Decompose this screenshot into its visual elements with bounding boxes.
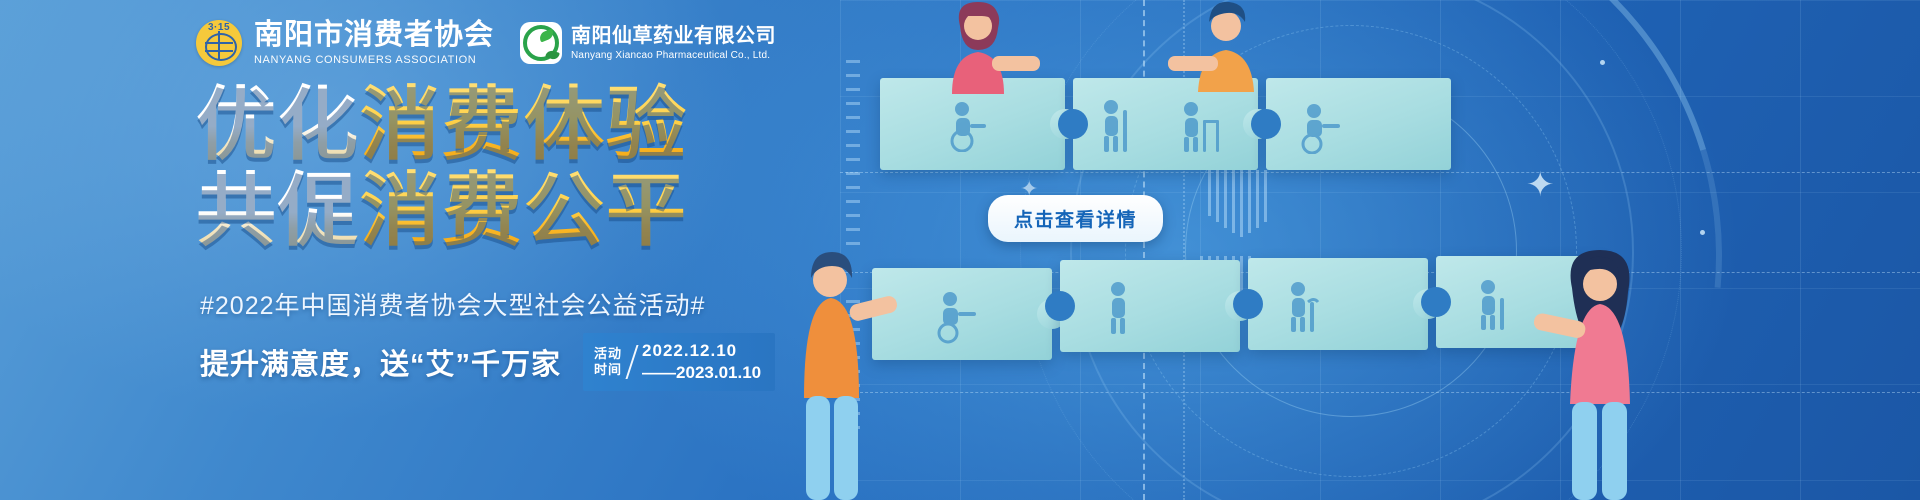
association-name-en: NANYANG CONSUMERS ASSOCIATION: [254, 55, 494, 66]
date-end: ——2023.01.10: [642, 362, 761, 384]
campaign-hashtag: #2022年中国消费者协会大型社会公益活动#: [200, 286, 705, 322]
headline-line2-white: 共促: [196, 166, 360, 255]
headline-line2-gold: 消费公平: [360, 166, 688, 255]
view-details-button[interactable]: 点击查看详情: [988, 195, 1163, 242]
dot-decoration-c: [1600, 60, 1605, 65]
vertical-dashed-line: [1143, 0, 1145, 500]
company-name-cn: 南阳仙草药业有限公司: [571, 26, 776, 46]
bottom-row: 提升满意度，送“艾”千万家 活动 时间 2022.12.10 ——2023.01…: [200, 333, 775, 391]
slash-divider: [626, 345, 639, 379]
star-icon-b: ✦: [1526, 168, 1555, 202]
headline-block: 优化消费体验 共促消费公平: [196, 86, 688, 249]
seal-number: 3·15: [196, 22, 242, 33]
horizontal-dashed-line-bottom: [840, 392, 1920, 393]
person-bottom-left: [790, 248, 900, 500]
date-label-line1: 活动: [594, 346, 622, 362]
comb-decoration-a: [1208, 170, 1267, 240]
tick-marks-left: [846, 60, 860, 245]
horizontal-dashed-line-top: [840, 172, 1920, 173]
person-top-right: [1150, 0, 1280, 92]
logo-row: 3·15 南阳市消费者协会 NANYANG CONSUMERS ASSOCIAT…: [196, 20, 776, 66]
campaign-slogan: 提升满意度，送“艾”千万家: [200, 341, 561, 383]
event-date-badge: 活动 时间 2022.12.10 ——2023.01.10: [583, 333, 775, 391]
dot-decoration-b: [1700, 230, 1705, 235]
leaf-icon: [520, 22, 562, 64]
company-logo: 南阳仙草药业有限公司 Nanyang Xiancao Pharmaceutica…: [520, 22, 776, 64]
person-top-left: [930, 2, 1050, 94]
person-bottom-right: [1530, 248, 1660, 500]
view-details-label: 点击查看详情: [1014, 210, 1137, 231]
promo-banner: ✦ ✦ ✦: [0, 0, 1920, 500]
company-name-en: Nanyang Xiancao Pharmaceutical Co., Ltd.: [571, 51, 776, 61]
association-logo: 3·15 南阳市消费者协会 NANYANG CONSUMERS ASSOCIAT…: [196, 20, 494, 66]
puzzle-piece-bottom-3: [1248, 258, 1428, 350]
association-name-cn: 南阳市消费者协会: [254, 21, 494, 50]
headline-line-1: 优化消费体验: [196, 86, 688, 164]
date-start: 2022.12.10: [642, 340, 761, 362]
headline-line1-gold: 消费体验: [360, 80, 688, 169]
date-label-line2: 时间: [594, 362, 622, 378]
headline-line-2: 共促消费公平: [196, 172, 688, 250]
consumer-315-seal-icon: 3·15: [196, 20, 242, 66]
puzzle-piece-top-3: [1266, 78, 1451, 170]
headline-line1-white: 优化: [196, 80, 360, 169]
puzzle-piece-bottom-2: [1060, 260, 1240, 352]
